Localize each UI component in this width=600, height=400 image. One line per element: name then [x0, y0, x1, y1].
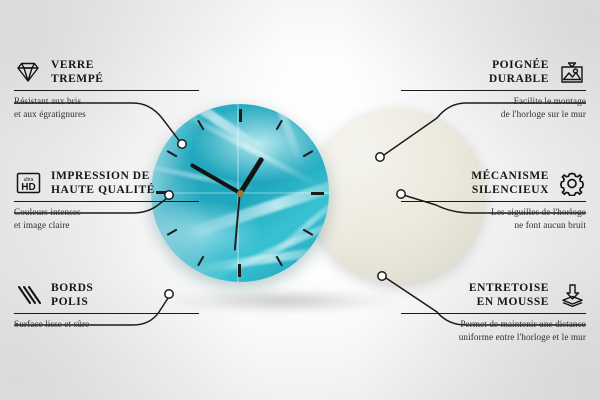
feature-header: POIGNÉEDURABLE — [401, 58, 586, 86]
feature-divider — [14, 313, 199, 314]
feature-subtitle: Couleurs intenseset image claire — [14, 206, 199, 231]
feature-subtitle: Résistant aux briset aux égratignures — [14, 95, 199, 120]
feature-header: ENTRETOISEEN MOUSSE — [401, 281, 586, 309]
feature-title: IMPRESSION DEHAUTE QUALITÉ — [51, 169, 155, 197]
feature-divider — [401, 313, 586, 314]
product-shadow — [168, 288, 398, 314]
feather-pattern — [191, 243, 329, 274]
feature-header: VERRETREMPÉ — [14, 58, 199, 86]
ultra-hd-icon: ultraHD — [14, 170, 42, 196]
feature-subtitle: Permet de maintenir une distanceuniforme… — [401, 318, 586, 343]
foam-spacer-icon — [558, 282, 586, 308]
diamond-icon — [14, 59, 42, 85]
feature-divider — [14, 201, 199, 202]
feature-header: MÉCANISMESILENCIEUX — [401, 169, 586, 197]
picture-hanger-icon — [558, 59, 586, 85]
feature-divider — [401, 90, 586, 91]
product-feature-infographic: VERRETREMPÉ Résistant aux briset aux égr… — [0, 0, 600, 400]
feature-divider — [401, 201, 586, 202]
feature-subtitle: Facilite le montagede l'horloge sur le m… — [401, 95, 586, 120]
feature-impression-haute-qualite[interactable]: ultraHD IMPRESSION DEHAUTE QUALITÉ Coule… — [14, 169, 199, 231]
polished-edge-icon — [14, 282, 42, 308]
feature-header: BORDSPOLIS — [14, 281, 199, 309]
feature-header: ultraHD IMPRESSION DEHAUTE QUALITÉ — [14, 169, 199, 197]
feature-title: ENTRETOISEEN MOUSSE — [469, 281, 549, 309]
feature-title: POIGNÉEDURABLE — [489, 58, 549, 86]
feature-subtitle: Surface lisse et sûre — [14, 318, 199, 330]
feature-title: BORDSPOLIS — [51, 281, 93, 309]
feature-poignee-durable[interactable]: POIGNÉEDURABLE Facilite le montagede l'h… — [401, 58, 586, 120]
gear-icon — [558, 170, 586, 196]
feature-subtitle: Les aiguilles de l'horlogene font aucun … — [401, 206, 586, 231]
clock-center-hub — [237, 190, 244, 197]
feature-title: MÉCANISMESILENCIEUX — [471, 169, 549, 197]
feature-title: VERRETREMPÉ — [51, 58, 104, 86]
feature-bords-polis[interactable]: BORDSPOLIS Surface lisse et sûre — [14, 281, 199, 331]
feature-mecanisme-silencieux[interactable]: MÉCANISMESILENCIEUX Les aiguilles de l'h… — [401, 169, 586, 231]
feature-divider — [14, 90, 199, 91]
feature-entretoise-en-mousse[interactable]: ENTRETOISEEN MOUSSE Permet de maintenir … — [401, 281, 586, 343]
svg-text:HD: HD — [21, 182, 35, 193]
feature-verre-trempe[interactable]: VERRETREMPÉ Résistant aux briset aux égr… — [14, 58, 199, 120]
